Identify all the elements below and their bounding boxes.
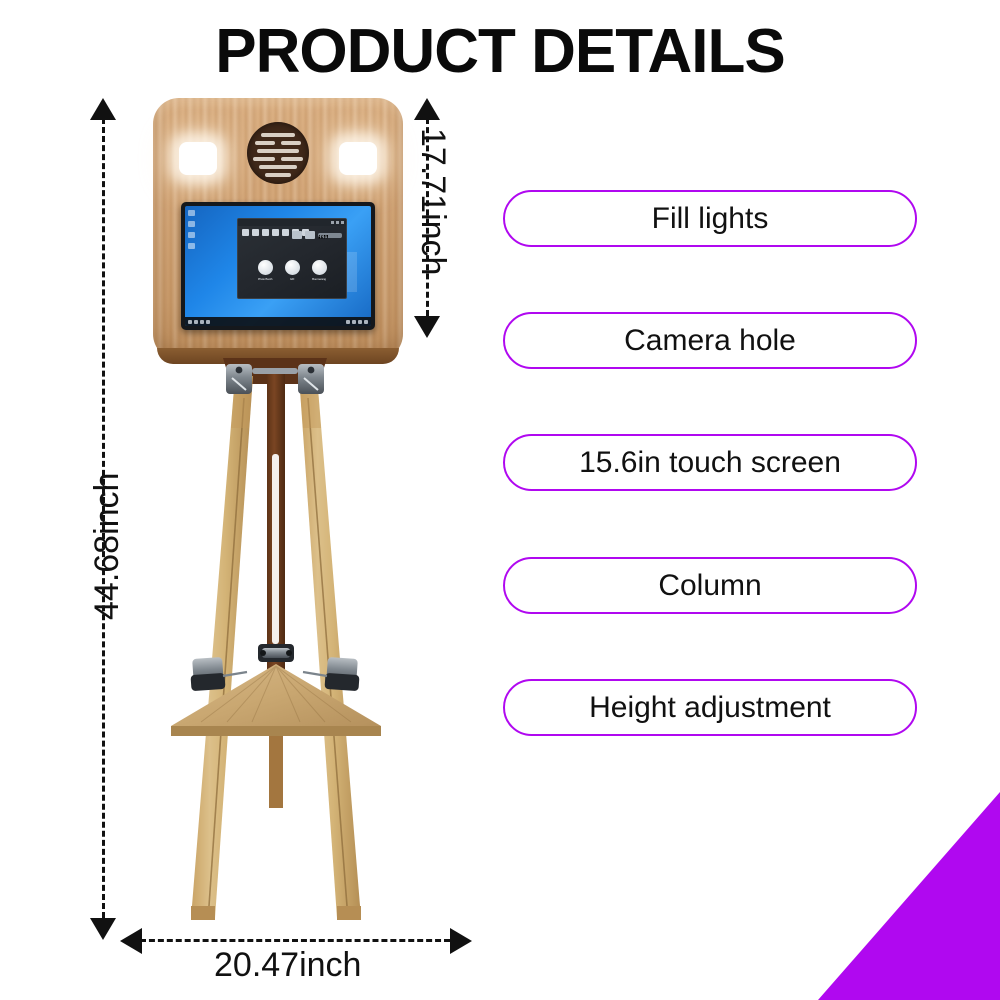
clamp-mid-left (190, 657, 247, 691)
app-mode-buttons[interactable]: Photo Booth GIF Boomerang (238, 260, 346, 281)
tripod-stand (95, 358, 455, 950)
shelf-edge (171, 726, 381, 736)
label-pill-touch-screen[interactable]: 15.6in touch screen (503, 434, 917, 491)
dim-arrow-right-base (450, 928, 472, 954)
dim-line-width (140, 939, 450, 942)
dim-arrow-bottom-left (90, 918, 116, 940)
label-pill-text: Column (658, 569, 761, 603)
screen-desktop[interactable]: Photo Booth GIF Boomerang (185, 206, 371, 326)
column-slot (272, 454, 279, 644)
clamp-upper-left (226, 364, 252, 394)
page-title: PRODUCT DETAILS (0, 16, 1000, 87)
label-pill-text: Height adjustment (589, 691, 831, 725)
desktop-icons (188, 210, 197, 254)
camera-icon (258, 260, 273, 275)
tripod-leg-right (299, 376, 361, 918)
corner-triangle-decoration (818, 792, 1000, 1000)
label-pill-text: Fill lights (652, 202, 769, 236)
app-button-label: Photo Booth (258, 277, 273, 281)
photo-booth-app-window[interactable]: Photo Booth GIF Boomerang (237, 218, 347, 299)
app-button-gif[interactable]: GIF (285, 260, 300, 281)
label-pill-column[interactable]: Column (503, 557, 917, 614)
dim-arrow-left-base (120, 928, 142, 954)
boomerang-icon (312, 260, 327, 275)
tripod-leg-left (191, 376, 253, 918)
dim-arrow-top-right (414, 98, 440, 120)
camera-hole-icon (247, 122, 309, 184)
app-titlebar (238, 219, 346, 226)
label-pill-height-adjustment[interactable]: Height adjustment (503, 679, 917, 736)
clamp-upper-right (298, 364, 324, 394)
dim-label-height: 44.68inch (88, 473, 127, 620)
product-illustration: Photo Booth GIF Boomerang (95, 90, 455, 950)
app-toolbar-right[interactable] (292, 231, 342, 239)
taskbar-apps[interactable] (188, 320, 210, 324)
taskbar-system-tray[interactable] (346, 320, 368, 324)
windows-taskbar[interactable] (185, 317, 371, 326)
dim-label-width: 20.47inch (214, 946, 361, 985)
app-button-label: GIF (285, 277, 300, 281)
dim-arrow-top-left (90, 98, 116, 120)
fill-light-right-icon (339, 142, 377, 175)
label-pill-fill-lights[interactable]: Fill lights (503, 190, 917, 247)
foot-left (191, 906, 215, 920)
clamp-crossbar (252, 368, 298, 374)
shelf-center-post (269, 736, 283, 808)
label-pill-text: 15.6in touch screen (579, 446, 841, 480)
fill-light-left-icon (179, 142, 217, 175)
foot-right (337, 906, 361, 920)
app-button-label: Boomerang (312, 277, 327, 281)
label-pill-camera-hole[interactable]: Camera hole (503, 312, 917, 369)
app-button-boomerang[interactable]: Boomerang (312, 260, 327, 281)
product-details-page: PRODUCT DETAILS (0, 0, 1000, 1000)
dim-arrow-head-bottom (414, 316, 440, 338)
head-panel: Photo Booth GIF Boomerang (153, 98, 403, 360)
clamp-mid-center (258, 644, 294, 662)
gif-icon (285, 260, 300, 275)
dim-label-head: 17.71inch (413, 128, 452, 275)
label-pill-text: Camera hole (624, 324, 796, 358)
app-button-photo[interactable]: Photo Booth (258, 260, 273, 281)
touch-screen[interactable]: Photo Booth GIF Boomerang (181, 202, 375, 330)
